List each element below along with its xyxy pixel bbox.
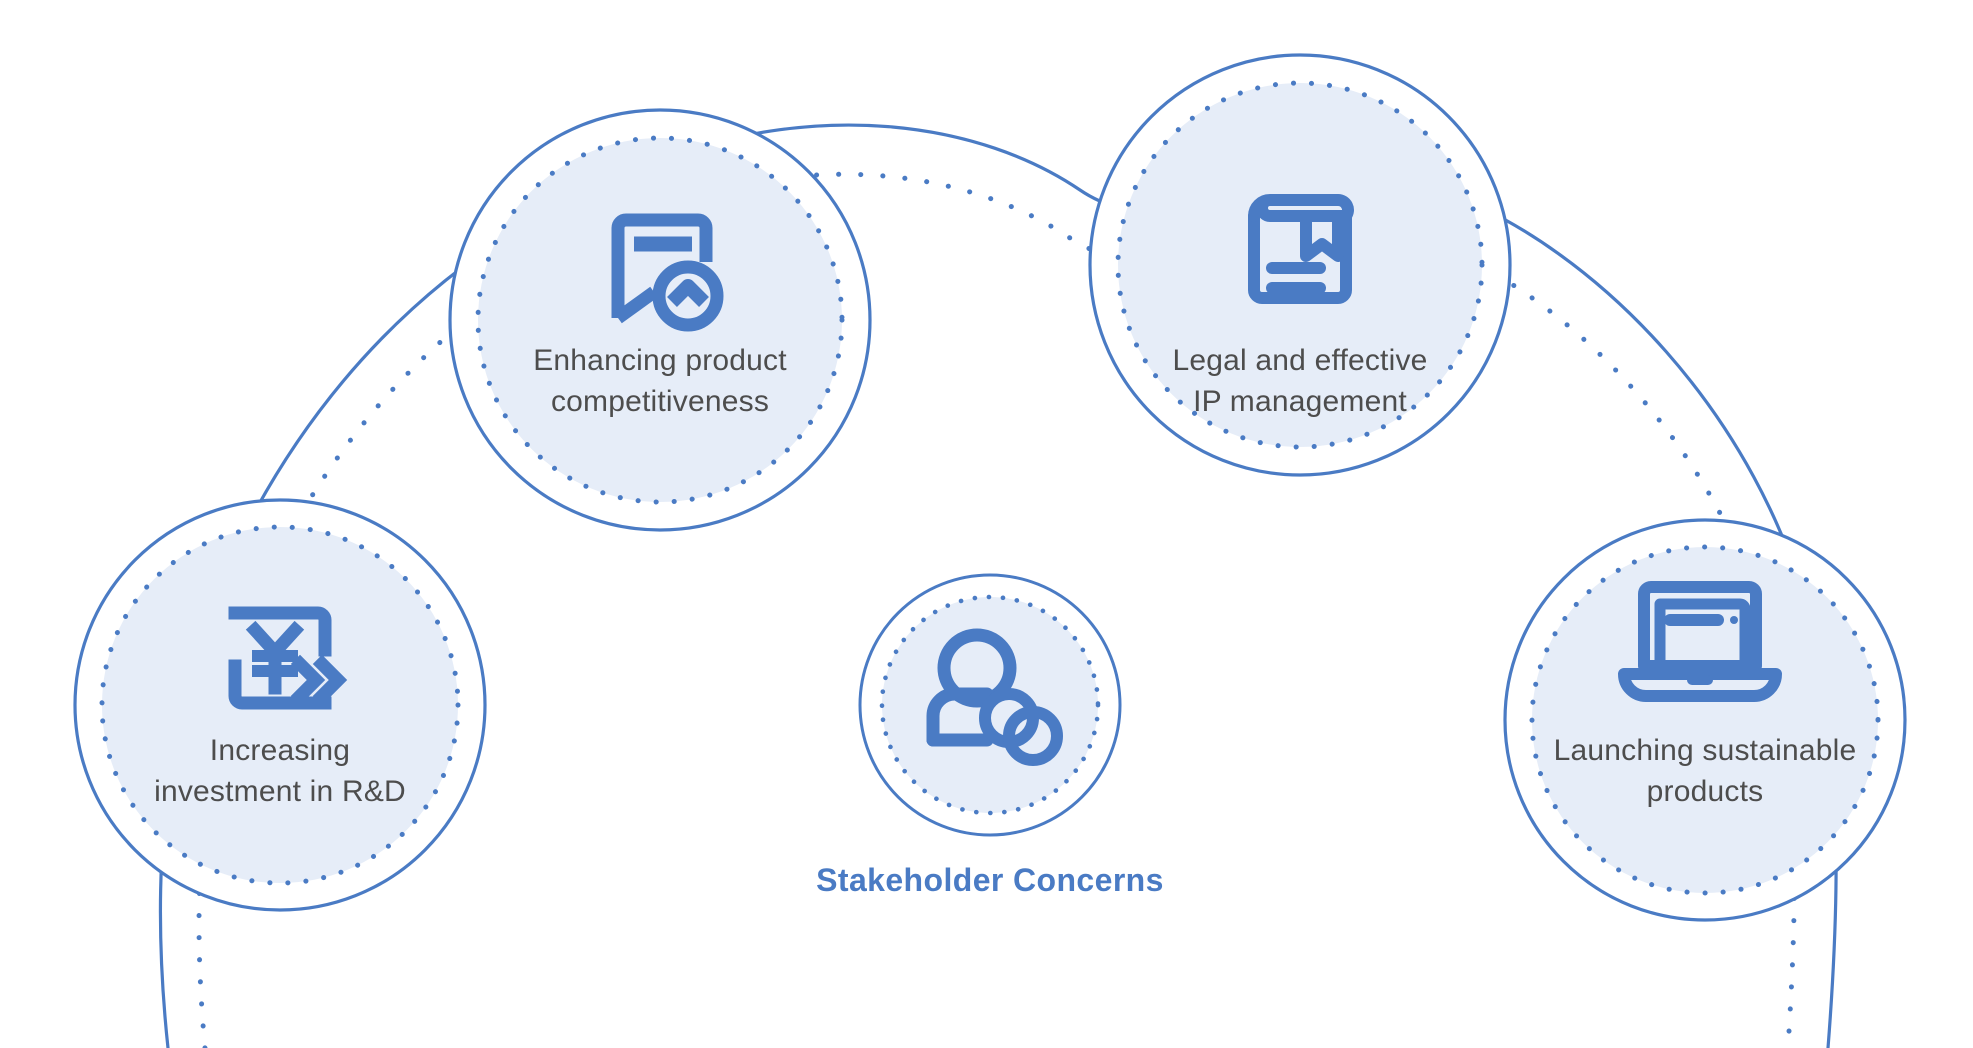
node-center-stakeholder-concerns[interactable] xyxy=(860,575,1120,835)
center-title: Stakeholder Concerns xyxy=(790,862,1190,899)
diagram-canvas: Increasing investment in R&D Enhancing p… xyxy=(0,0,1973,1048)
node-launching-sustainable-products[interactable] xyxy=(1505,520,1905,920)
node-increasing-investment-rd[interactable] xyxy=(75,500,485,910)
node-enhancing-product-competitiveness[interactable] xyxy=(450,110,870,530)
node-inner-disc xyxy=(478,138,842,502)
node-legal-effective-ip-management[interactable] xyxy=(1090,55,1510,475)
